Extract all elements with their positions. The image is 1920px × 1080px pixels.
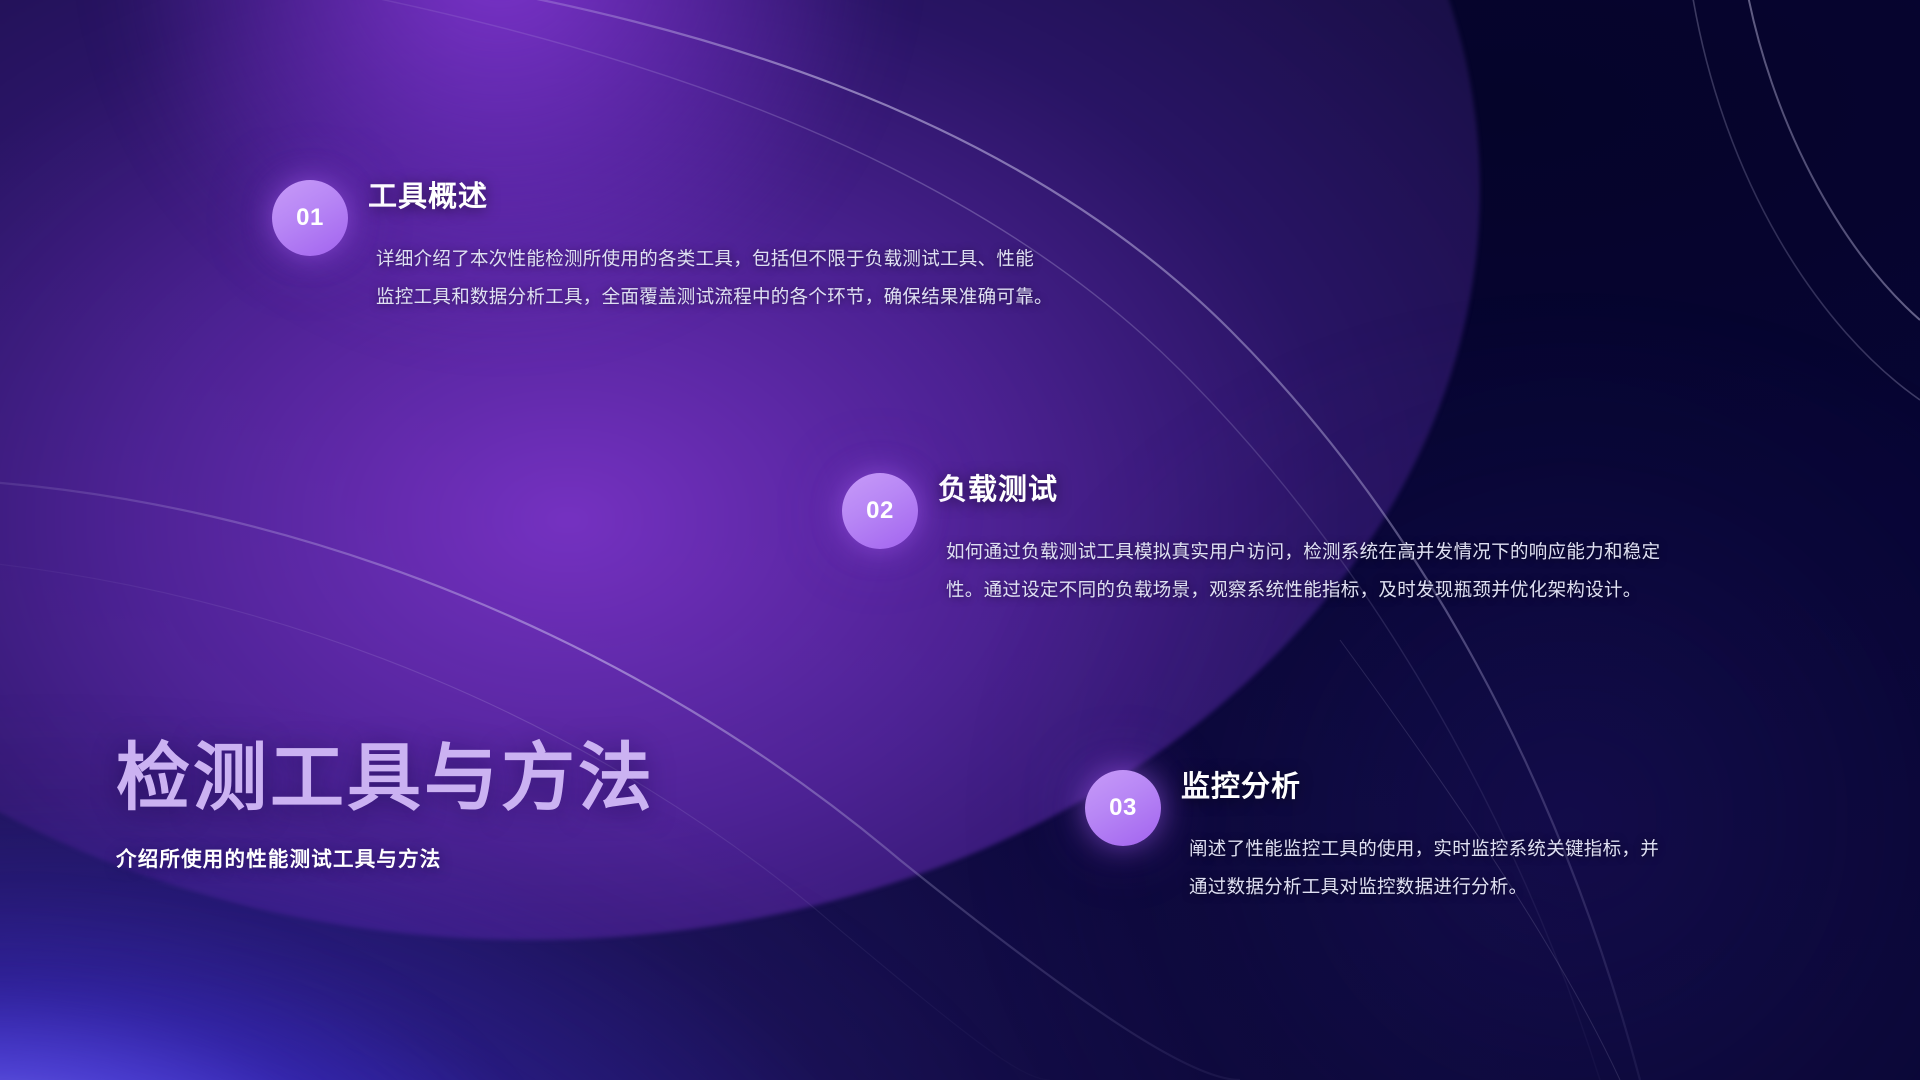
timeline-item-01[interactable]: 01 工具概述 详细介绍了本次性能检测所使用的各类工具，包括但不限于负载测试工具… xyxy=(272,180,1053,316)
step-number-label: 02 xyxy=(866,499,894,523)
item-content-03: 监控分析 阐述了性能监控工具的使用，实时监控系统关键指标，并 通过数据分析工具对… xyxy=(1181,770,1659,906)
page-title: 检测工具与方法 xyxy=(116,738,655,818)
item-title-03: 监控分析 xyxy=(1181,772,1659,804)
item-desc-line: 监控工具和数据分析工具，全面覆盖测试流程中的各个环节，确保结果准确可靠。 xyxy=(376,278,1053,316)
slide-canvas: 01 工具概述 详细介绍了本次性能检测所使用的各类工具，包括但不限于负载测试工具… xyxy=(0,0,1920,1080)
page-subtitle: 介绍所使用的性能测试工具与方法 xyxy=(116,842,655,872)
item-content-01: 工具概述 详细介绍了本次性能检测所使用的各类工具，包括但不限于负载测试工具、性能… xyxy=(368,180,1053,316)
step-number-badge-01: 01 xyxy=(272,180,348,256)
item-description-03: 阐述了性能监控工具的使用，实时监控系统关键指标，并 通过数据分析工具对监控数据进… xyxy=(1189,830,1659,906)
item-desc-line: 如何通过负载测试工具模拟真实用户访问，检测系统在高并发情况下的响应能力和稳定 xyxy=(946,533,1660,571)
item-desc-line: 详细介绍了本次性能检测所使用的各类工具，包括但不限于负载测试工具、性能 xyxy=(376,240,1053,278)
step-number-badge-03: 03 xyxy=(1085,770,1161,846)
item-title-02: 负载测试 xyxy=(938,475,1660,507)
timeline-item-02[interactable]: 02 负载测试 如何通过负载测试工具模拟真实用户访问，检测系统在高并发情况下的响… xyxy=(842,473,1660,609)
item-description-02: 如何通过负载测试工具模拟真实用户访问，检测系统在高并发情况下的响应能力和稳定 性… xyxy=(946,533,1660,609)
timeline-item-03[interactable]: 03 监控分析 阐述了性能监控工具的使用，实时监控系统关键指标，并 通过数据分析… xyxy=(1085,770,1659,906)
headline-block: 检测工具与方法 介绍所使用的性能测试工具与方法 xyxy=(116,738,655,872)
step-number-label: 01 xyxy=(296,206,324,230)
item-title-01: 工具概述 xyxy=(368,182,1053,214)
item-content-02: 负载测试 如何通过负载测试工具模拟真实用户访问，检测系统在高并发情况下的响应能力… xyxy=(938,473,1660,609)
step-number-badge-02: 02 xyxy=(842,473,918,549)
item-desc-line: 阐述了性能监控工具的使用，实时监控系统关键指标，并 xyxy=(1189,830,1659,868)
item-description-01: 详细介绍了本次性能检测所使用的各类工具，包括但不限于负载测试工具、性能 监控工具… xyxy=(376,240,1053,316)
item-desc-line: 通过数据分析工具对监控数据进行分析。 xyxy=(1189,868,1659,906)
step-number-label: 03 xyxy=(1109,796,1137,820)
item-desc-line: 性。通过设定不同的负载场景，观察系统性能指标，及时发现瓶颈并优化架构设计。 xyxy=(946,571,1660,609)
